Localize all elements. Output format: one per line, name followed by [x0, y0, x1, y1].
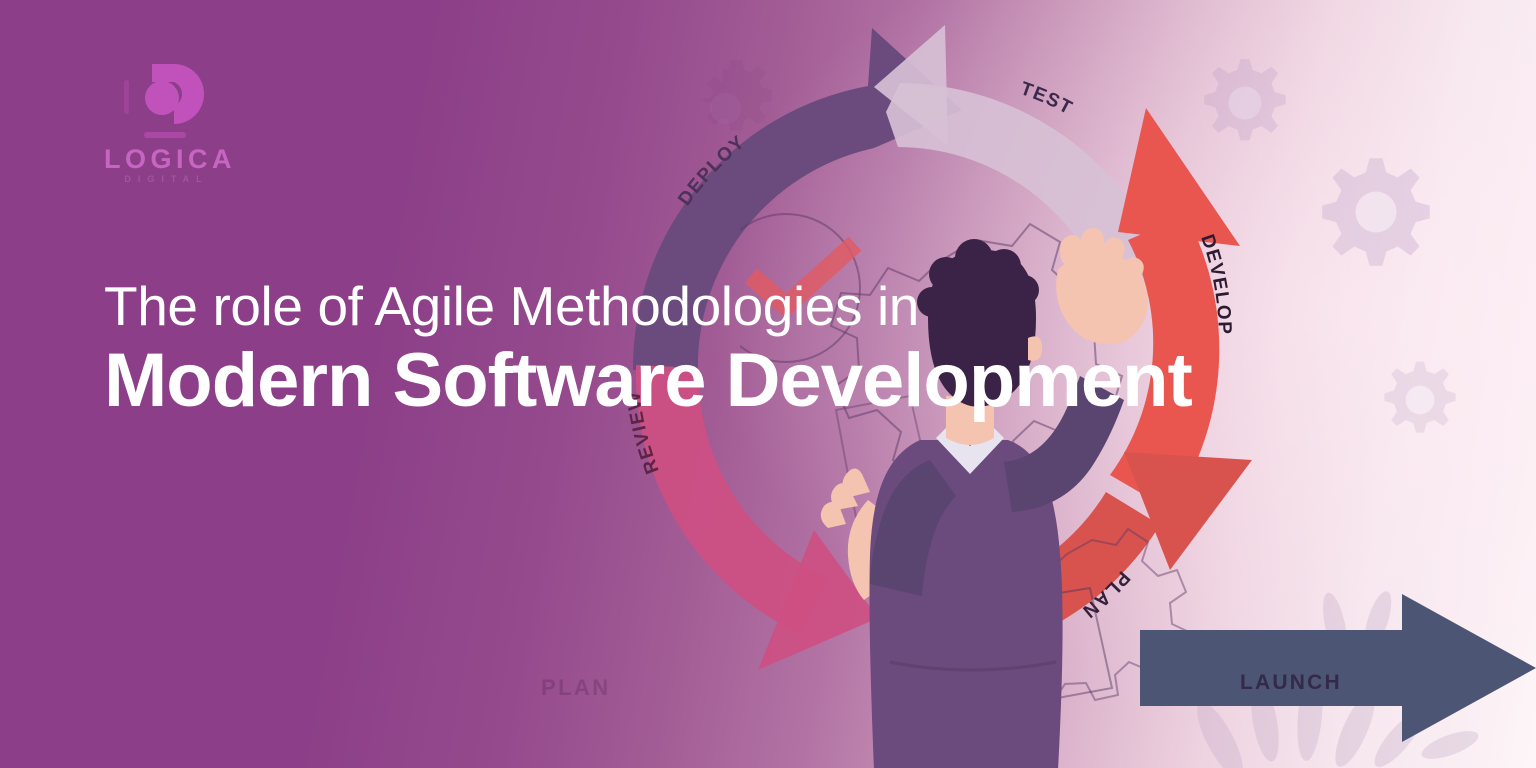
headline-block: The role of Agile Methodologies in Moder… [104, 278, 1404, 420]
headline-line-1: The role of Agile Methodologies in [104, 278, 1404, 335]
logo-wordmark: LOGICA [104, 146, 229, 173]
logo[interactable]: LOGICA DIGITAL [104, 58, 264, 183]
logo-subtext: DIGITAL [104, 175, 229, 184]
hero-banner: DEPLOY TEST DEVELOP PLAN REVIEW PLAN [0, 0, 1536, 768]
plan-watermark-label: PLAN [541, 675, 611, 701]
logica-circle-mark-icon [122, 58, 214, 149]
launch-label: LAUNCH [1240, 671, 1342, 695]
headline-line-2: Modern Software Development [104, 341, 1404, 420]
